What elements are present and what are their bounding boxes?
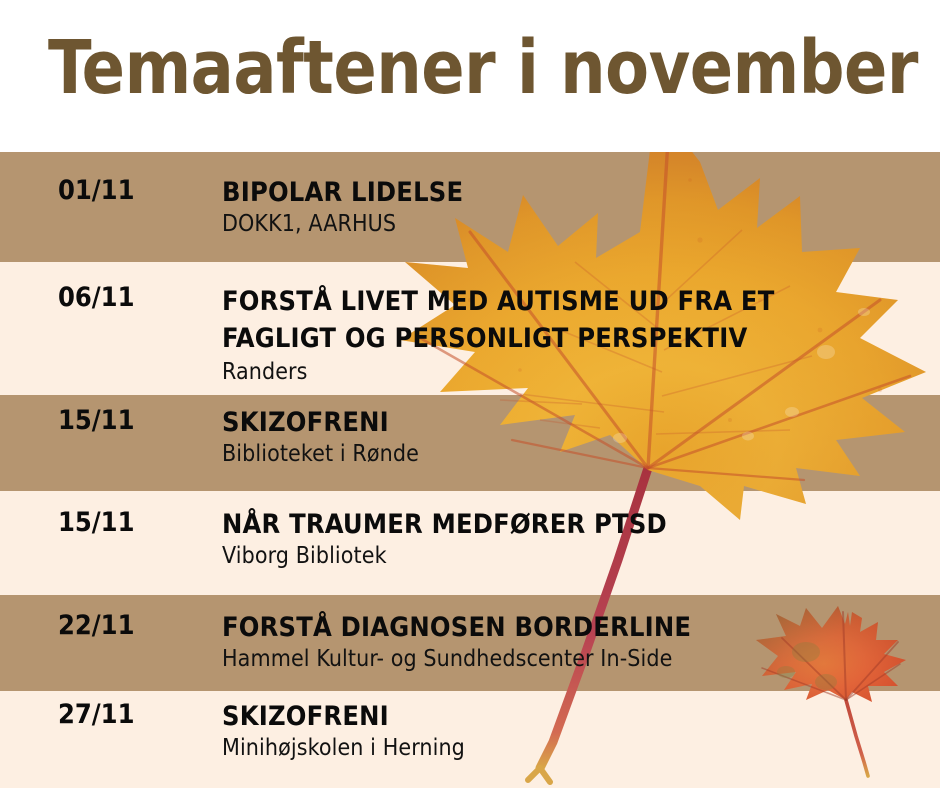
event-date: 22/11 [58,611,208,641]
event-venue: Viborg Bibliotek [222,542,930,571]
event-title: SKIZOFRENI [222,700,930,733]
event-title: BIPOLAR LIDELSE [222,176,930,209]
event-text: SKIZOFRENI Minihøjskolen i Herning [222,700,930,763]
event-text: FORSTÅ LIVET MED AUTISME UD FRA ET FAGLI… [222,283,930,387]
event-title: FORSTÅ LIVET MED AUTISME UD FRA ET FAGLI… [222,283,930,357]
event-text: FORSTÅ DIAGNOSEN BORDERLINE Hammel Kultu… [222,611,930,674]
event-date: 15/11 [58,406,208,436]
event-venue: DOKK1, AARHUS [222,210,930,239]
event-title: NÅR TRAUMER MEDFØRER PTSD [222,508,930,541]
event-date: 15/11 [58,508,208,538]
event-venue: Biblioteket i Rønde [222,440,930,469]
event-title: SKIZOFRENI [222,406,930,439]
event-date: 27/11 [58,700,208,730]
header-area: Temaaftener i november [0,0,940,152]
poster-canvas: 01/11 BIPOLAR LIDELSE DOKK1, AARHUS 06/1… [0,0,940,788]
event-date: 01/11 [58,176,208,206]
event-venue: Minihøjskolen i Herning [222,734,930,763]
event-venue: Randers [222,358,930,387]
event-date: 06/11 [58,283,208,313]
event-text: BIPOLAR LIDELSE DOKK1, AARHUS [222,176,930,239]
page-title: Temaaftener i november [48,26,874,110]
event-text: SKIZOFRENI Biblioteket i Rønde [222,406,930,469]
event-title: FORSTÅ DIAGNOSEN BORDERLINE [222,611,930,644]
event-venue: Hammel Kultur- og Sundhedscenter In-Side [222,645,930,674]
event-text: NÅR TRAUMER MEDFØRER PTSD Viborg Bibliot… [222,508,930,571]
